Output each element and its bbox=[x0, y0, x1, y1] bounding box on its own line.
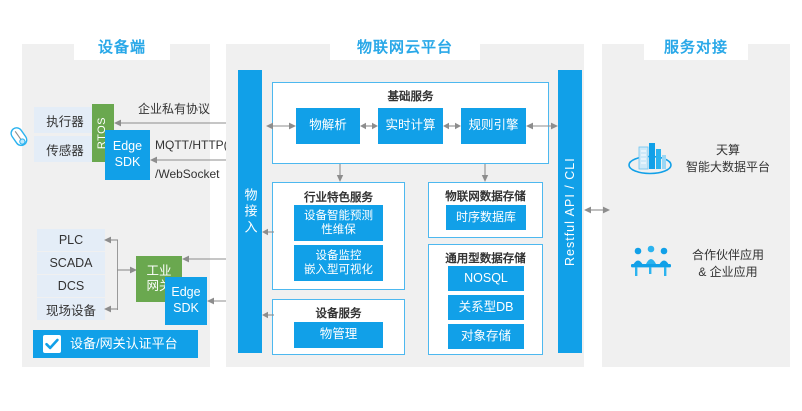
arrow-private-protocol bbox=[114, 118, 238, 128]
source-bracket-line bbox=[117, 240, 118, 310]
arrow-basic-to-industry bbox=[335, 164, 345, 182]
general-storage-label: 通用型数据存储 bbox=[428, 250, 543, 266]
partners-line1: 合作伙伴应用 bbox=[672, 247, 784, 264]
device-monitoring-line2: 嵌入型可视化 bbox=[304, 263, 373, 277]
service-device-monitoring[interactable]: 设备监控 嵌入型可视化 bbox=[294, 245, 383, 281]
endpoint-sensor[interactable]: 传感器 bbox=[34, 136, 96, 162]
basic-services-label: 基础服务 bbox=[272, 88, 549, 104]
arrow-plc-branch bbox=[104, 235, 118, 245]
arrow-ingress-to-industry-services bbox=[262, 227, 274, 237]
endpoint-actuator[interactable]: 执行器 bbox=[34, 107, 96, 133]
service-realtime-compute[interactable]: 实时计算 bbox=[378, 108, 443, 144]
predictive-maintenance-line1: 设备智能预测 bbox=[304, 209, 373, 223]
service-panel-title: 服务对接 bbox=[644, 33, 748, 60]
source-scada[interactable]: SCADA bbox=[37, 252, 105, 274]
iot-storage-label: 物联网数据存储 bbox=[428, 188, 543, 204]
big-data-platform-icon bbox=[627, 138, 673, 178]
edge-sdk-gateway-line1: Edge bbox=[171, 285, 200, 301]
partners-meeting-icon bbox=[628, 244, 674, 278]
arrow-field-device-branch bbox=[104, 304, 118, 314]
auth-platform-label: 设备/网关认证平台 bbox=[70, 336, 178, 352]
storage-relational-db[interactable]: 关系型DB bbox=[448, 295, 524, 320]
service-thing-management[interactable]: 物管理 bbox=[294, 322, 383, 348]
arrow-rule-engine-to-api bbox=[526, 121, 558, 131]
source-field-device[interactable]: 现场设备 bbox=[37, 298, 105, 320]
storage-object-storage[interactable]: 对象存储 bbox=[448, 324, 524, 349]
ingress-bar[interactable]: 物接入 bbox=[238, 70, 262, 353]
arrow-compute-to-rule-engine bbox=[443, 121, 461, 131]
arrow-mqtt-protocol bbox=[150, 155, 238, 165]
arrow-parsing-to-compute bbox=[360, 121, 378, 131]
check-icon bbox=[43, 335, 61, 353]
auth-platform-bar[interactable]: 设备/网关认证平台 bbox=[33, 330, 198, 358]
edge-sdk-gateway-line2: SDK bbox=[173, 301, 199, 317]
predictive-maintenance-line2: 性维保 bbox=[321, 223, 356, 237]
service-predictive-maintenance[interactable]: 设备智能预测 性维保 bbox=[294, 205, 383, 241]
chip-icon bbox=[8, 123, 34, 151]
big-data-platform-line2: 智能大数据平台 bbox=[672, 159, 784, 176]
partners-text: 合作伙伴应用 & 企业应用 bbox=[672, 247, 784, 282]
arrow-ingress-to-parsing bbox=[266, 121, 296, 131]
service-thing-parsing[interactable]: 物解析 bbox=[296, 108, 360, 144]
industry-services-label: 行业特色服务 bbox=[272, 189, 405, 205]
restful-api-bar[interactable]: Restful API / CLI bbox=[558, 70, 582, 353]
device-services-label: 设备服务 bbox=[272, 305, 405, 321]
arrow-bracket-to-gateway bbox=[117, 265, 137, 275]
big-data-platform-text: 天算 智能大数据平台 bbox=[672, 142, 784, 177]
arrow-api-to-services bbox=[584, 205, 610, 215]
edge-sdk-gateway-box[interactable]: Edge SDK bbox=[165, 277, 207, 325]
device-panel-title: 设备端 bbox=[74, 33, 170, 60]
storage-timeseries-db[interactable]: 时序数据库 bbox=[446, 205, 526, 230]
big-data-platform-line1: 天算 bbox=[672, 142, 784, 159]
protocol-private-label: 企业私有协议 bbox=[138, 100, 210, 117]
service-rule-engine[interactable]: 规则引擎 bbox=[461, 108, 526, 144]
service-panel bbox=[602, 44, 790, 367]
source-dcs[interactable]: DCS bbox=[37, 275, 105, 297]
storage-nosql[interactable]: NOSQL bbox=[448, 266, 524, 291]
source-plc[interactable]: PLC bbox=[37, 229, 105, 251]
arrow-ingress-to-device-services bbox=[262, 310, 274, 320]
device-monitoring-line1: 设备监控 bbox=[316, 249, 362, 263]
cloud-panel-title: 物联网云平台 bbox=[330, 33, 480, 60]
diagram-canvas: 设备端 执行器 传感器 RTOS Edge SDK 企业私有协议 MQTT/HT… bbox=[0, 0, 802, 411]
partners-line2: & 企业应用 bbox=[672, 264, 784, 281]
protocol-websocket-label: /WebSocket bbox=[155, 167, 219, 181]
edge-sdk-device-line2: SDK bbox=[115, 155, 141, 171]
arrow-basic-to-storage bbox=[480, 164, 490, 182]
edge-sdk-device-box[interactable]: Edge SDK bbox=[105, 130, 150, 180]
edge-sdk-device-line1: Edge bbox=[113, 139, 142, 155]
